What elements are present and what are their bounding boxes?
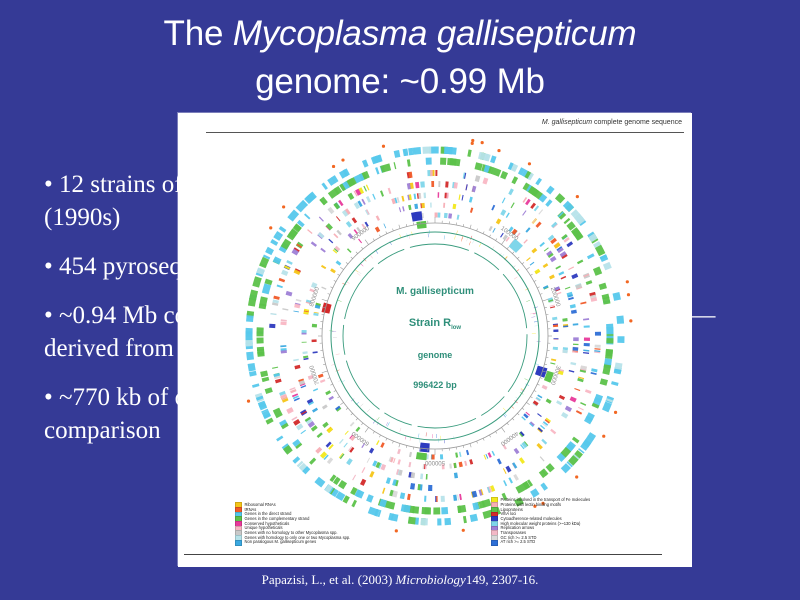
scale-tick — [386, 438, 387, 440]
scale-tick — [542, 299, 548, 301]
genome-feature — [444, 518, 451, 525]
scale-tick — [322, 371, 328, 373]
genome-feature — [281, 350, 287, 353]
scale-tick — [392, 441, 393, 443]
genome-feature — [525, 227, 530, 232]
genome-feature — [347, 248, 352, 253]
legend-right: Proteins involved in the transport of Fe… — [491, 498, 590, 545]
genome-feature — [546, 399, 552, 404]
genome-feature — [275, 379, 282, 384]
genome-feature — [279, 226, 287, 233]
genome-feature — [424, 496, 426, 502]
scale-tick — [379, 235, 380, 237]
genome-feature — [441, 496, 445, 502]
genome-feature — [585, 389, 592, 394]
genome-feature — [544, 247, 549, 251]
genome-feature — [328, 396, 334, 401]
genome-feature — [358, 271, 361, 274]
genome-feature — [475, 175, 481, 182]
genome-marker-dot — [481, 141, 484, 144]
genome-feature — [246, 335, 253, 340]
center-organism: M. gallisepticum — [396, 286, 474, 297]
genome-feature — [534, 205, 539, 211]
genome-feature — [492, 228, 495, 233]
genome-feature — [333, 233, 338, 238]
genome-feature — [262, 377, 270, 382]
genome-feature — [440, 158, 446, 165]
genome-feature — [408, 462, 411, 467]
genome-feature — [421, 203, 425, 208]
genome-feature — [433, 507, 440, 514]
figure-bottom-rule — [184, 554, 662, 556]
genome-marker-dot — [614, 411, 617, 414]
genome-feature — [260, 370, 268, 377]
genome-feature — [257, 329, 264, 336]
scale-tick — [386, 231, 387, 233]
scale-tick — [489, 435, 490, 437]
genome-feature — [541, 439, 547, 445]
genome-feature — [479, 243, 481, 247]
genome-feature — [296, 201, 308, 213]
genome-feature — [276, 435, 283, 441]
scale-tick — [544, 307, 546, 308]
genome-feature — [322, 422, 328, 428]
scale-tick — [544, 364, 546, 365]
genome-feature — [457, 215, 460, 220]
legend-row: Non paralogous M. gallisepticum genes — [235, 540, 350, 545]
genome-feature — [475, 162, 483, 170]
genome-feature — [249, 290, 258, 301]
genome-feature — [561, 276, 567, 280]
scale-tick — [330, 384, 332, 385]
genome-feature — [595, 345, 601, 348]
genome-feature — [511, 202, 515, 208]
circular-genome-map: 1000002000003000004000005000006000007000… — [197, 136, 673, 536]
genome-feature — [540, 456, 545, 461]
title-line2: genome: ~0.99 Mb — [255, 62, 545, 101]
genome-feature — [249, 371, 257, 377]
genome-feature — [360, 404, 363, 407]
genome-feature — [565, 287, 571, 290]
genome-marker-dot — [395, 529, 398, 532]
genome-feature — [553, 329, 558, 332]
genome-feature — [438, 181, 440, 187]
genome-feature — [273, 296, 280, 300]
genome-feature — [411, 211, 423, 221]
genome-feature — [246, 347, 253, 350]
scale-tick — [530, 274, 532, 275]
genome-marker-dot — [575, 475, 578, 478]
scale-tick — [534, 390, 536, 391]
genome-feature — [416, 221, 426, 229]
genome-feature — [265, 387, 273, 394]
scale-tick — [361, 423, 363, 425]
genome-feature — [380, 442, 384, 448]
legend-row: AT rich >= 2.5 STD — [491, 540, 590, 545]
genome-feature — [431, 181, 434, 187]
legend-label: AT rich >= 2.5 STD — [501, 540, 536, 545]
genome-feature — [435, 170, 437, 176]
genome-feature — [436, 496, 437, 502]
genome-feature — [538, 209, 543, 214]
genome-feature — [500, 209, 506, 216]
genome-feature — [441, 507, 448, 514]
genome-feature — [400, 492, 405, 499]
genome-feature — [503, 408, 506, 411]
citation-authors: Papazisi, L., et al. (2003) — [262, 572, 396, 587]
genome-feature — [482, 177, 488, 184]
genome-feature — [540, 425, 545, 430]
genome-feature — [437, 518, 441, 525]
genome-feature — [312, 408, 318, 413]
genome-feature — [546, 186, 555, 195]
genome-feature — [584, 325, 590, 327]
genome-feature — [315, 447, 322, 454]
genome-feature — [550, 256, 557, 262]
genome-feature — [426, 432, 427, 436]
genome-feature — [573, 323, 579, 325]
genome-feature — [534, 321, 538, 322]
genome-marker-dot — [269, 226, 272, 229]
genome-feature — [270, 239, 278, 246]
genome-feature — [502, 197, 506, 203]
genome-feature — [419, 443, 429, 453]
genome-feature — [530, 203, 536, 209]
genome-feature — [452, 204, 456, 209]
scale-tick — [328, 293, 330, 294]
scale-tick — [346, 262, 348, 264]
genome-feature — [366, 196, 371, 203]
genome-feature — [508, 477, 513, 483]
genome-feature — [366, 494, 374, 503]
genome-feature — [537, 413, 542, 417]
genome-feature — [503, 480, 507, 486]
genome-feature — [568, 266, 574, 270]
genome-feature — [286, 407, 293, 414]
genome-feature — [281, 270, 288, 276]
genome-feature — [309, 458, 316, 465]
genome-feature — [401, 196, 404, 202]
genome-feature — [559, 395, 565, 400]
genome-feature — [526, 300, 530, 302]
genome-feature — [469, 241, 471, 245]
scale-tick — [392, 229, 393, 231]
genome-feature — [454, 472, 458, 478]
genome-marker-dot — [247, 400, 250, 403]
genome-feature — [428, 233, 429, 237]
citation-volume: 149, 2307-16. — [466, 572, 539, 587]
genome-feature — [311, 241, 317, 247]
genome-feature — [265, 418, 273, 425]
genome-feature — [595, 332, 601, 336]
genome-feature — [583, 318, 589, 320]
genome-feature — [511, 176, 518, 184]
genome-feature — [376, 215, 380, 221]
genome-feature — [514, 448, 520, 454]
genome-feature — [459, 462, 463, 468]
genome-feature — [418, 434, 419, 438]
genome-feature — [514, 277, 517, 280]
center-genome-label: genome — [418, 350, 453, 360]
genome-feature — [420, 474, 423, 480]
scale-tick — [334, 390, 336, 391]
genome-feature — [572, 437, 580, 444]
scale-tick — [477, 441, 478, 443]
scale-tick — [337, 274, 339, 275]
genome-feature — [432, 434, 433, 438]
genome-feature — [357, 273, 360, 276]
scale-tick — [361, 247, 363, 249]
genome-feature — [430, 170, 433, 176]
genome-feature — [414, 194, 417, 200]
scale-tick-label: 700000 — [309, 364, 321, 386]
legend-left: Ribosomal RNAstRNAsGenes in the direct s… — [235, 503, 350, 545]
genome-feature — [603, 262, 612, 270]
genome-feature — [553, 347, 558, 350]
genome-feature — [281, 319, 287, 321]
genome-feature — [422, 147, 431, 154]
genome-feature — [470, 514, 478, 522]
genome-feature — [383, 223, 386, 228]
genome-feature — [447, 158, 456, 166]
title-line1-italic: Mycoplasma gallisepticum — [233, 14, 637, 53]
genome-feature — [616, 316, 624, 324]
genome-feature — [302, 342, 307, 343]
genome-feature — [296, 299, 302, 302]
genome-feature — [248, 363, 256, 372]
genome-feature — [252, 276, 262, 287]
genome-feature — [611, 381, 619, 386]
genome-feature — [617, 336, 624, 343]
scale-tick — [496, 238, 497, 240]
scale-tick — [351, 413, 353, 415]
scale-tick — [399, 443, 400, 447]
scale-tick — [399, 225, 400, 229]
genome-feature — [346, 458, 353, 465]
genome-feature — [550, 362, 555, 364]
genome-feature — [573, 347, 579, 351]
genome-feature — [443, 203, 445, 208]
genome-feature — [530, 262, 535, 266]
genome-feature — [469, 459, 473, 465]
genome-feature — [591, 368, 597, 372]
scale-tick — [340, 267, 343, 269]
scale-tick — [330, 287, 332, 288]
genome-feature — [336, 354, 340, 355]
figure-header-rest: complete genome sequence — [592, 119, 682, 126]
genome-marker-dot — [626, 280, 629, 283]
legend-swatch — [235, 540, 242, 546]
genome-feature — [458, 194, 460, 200]
genome-feature — [259, 296, 268, 306]
genome-feature — [319, 217, 324, 222]
genome-feature — [375, 226, 380, 232]
genome-feature — [573, 344, 579, 346]
figure-header-organism: M. gallisepticum — [542, 119, 592, 126]
genome-marker-dot — [602, 435, 605, 438]
genome-feature — [496, 218, 502, 224]
genome-feature — [469, 197, 473, 203]
scale-tick — [501, 427, 505, 432]
genome-marker-dot — [382, 145, 385, 148]
genome-feature — [258, 401, 267, 411]
genome-feature — [363, 186, 367, 192]
genome-feature — [512, 462, 517, 468]
genome-feature — [587, 253, 595, 259]
genome-feature — [466, 450, 469, 455]
center-genome-size: 996422 bp — [413, 380, 457, 390]
scale-tick — [328, 378, 330, 379]
genome-marker-dot — [471, 139, 474, 142]
genome-feature — [448, 213, 452, 218]
gc-skew-ring-outer — [331, 232, 539, 440]
genome-feature — [453, 495, 457, 501]
genome-feature — [497, 458, 502, 464]
genome-feature — [282, 308, 288, 310]
genome-feature — [330, 268, 336, 273]
genome-feature — [440, 436, 441, 440]
genome-feature — [246, 315, 254, 322]
genome-feature — [321, 287, 326, 290]
genome-feature — [545, 199, 552, 207]
genome-feature — [380, 190, 384, 196]
gc-skew-ring-inner — [343, 244, 527, 428]
genome-feature — [348, 193, 355, 200]
genome-feature — [540, 482, 548, 490]
genome-feature — [593, 266, 602, 275]
genome-feature — [566, 241, 573, 247]
genome-feature — [454, 463, 457, 468]
genome-marker-dot — [629, 319, 632, 322]
genome-feature — [321, 183, 327, 190]
genome-feature — [420, 518, 427, 525]
genome-feature — [534, 325, 538, 326]
genome-feature — [367, 458, 370, 463]
genome-feature — [319, 197, 328, 206]
genome-feature — [339, 168, 350, 178]
scale-tick — [470, 225, 471, 229]
genome-feature — [564, 218, 571, 224]
genome-feature — [317, 432, 323, 438]
genome-feature — [470, 208, 473, 213]
genome-feature — [401, 504, 411, 512]
genome-feature — [302, 333, 307, 335]
genome-feature — [394, 150, 401, 158]
genome-feature — [438, 439, 439, 443]
scale-tick — [406, 224, 407, 226]
genome-feature — [336, 260, 342, 265]
genome-feature — [519, 457, 525, 464]
genome-feature — [524, 378, 528, 380]
scale-tick — [540, 293, 542, 294]
genome-feature — [573, 337, 579, 341]
genome-feature — [565, 406, 572, 412]
scale-ring — [322, 223, 548, 449]
genome-feature — [615, 362, 623, 369]
genome-feature — [388, 188, 392, 194]
citation-journal: Microbiology — [396, 572, 466, 587]
genome-feature — [491, 205, 495, 211]
genome-feature — [532, 218, 537, 223]
genome-feature — [339, 439, 344, 444]
genome-feature — [386, 477, 391, 484]
genome-marker-dot — [282, 205, 285, 208]
genome-feature — [412, 506, 419, 514]
genome-feature — [430, 203, 432, 208]
figure-top-rule — [206, 132, 684, 133]
genome-feature — [492, 451, 496, 456]
genome-feature — [584, 343, 590, 346]
scale-tick — [534, 280, 536, 281]
genome-feature — [435, 213, 438, 218]
genome-feature — [586, 280, 593, 285]
genome-feature — [508, 188, 514, 195]
scale-tick — [365, 427, 369, 432]
genome-feature — [426, 474, 428, 480]
genome-feature — [488, 452, 492, 458]
genome-feature — [252, 383, 259, 388]
genome-feature — [505, 466, 511, 473]
scale-tick — [365, 240, 369, 245]
genome-figure-panel: M. gallisepticum complete genome sequenc… — [178, 113, 692, 567]
genome-feature — [369, 471, 374, 478]
genome-feature — [569, 370, 575, 373]
scale-tick — [522, 262, 524, 264]
genome-feature — [301, 430, 306, 434]
genome-feature — [591, 372, 597, 375]
genome-feature — [571, 310, 577, 314]
genome-feature — [333, 202, 340, 209]
genome-marker-dot — [528, 162, 531, 165]
scale-tick — [496, 431, 497, 433]
scale-tick — [463, 445, 464, 447]
genome-feature — [402, 206, 405, 211]
scale-tick — [537, 287, 539, 288]
genome-feature — [606, 324, 613, 334]
genome-feature — [352, 475, 356, 481]
genome-feature — [246, 352, 254, 361]
scale-tick — [517, 257, 519, 259]
genome-feature — [583, 352, 589, 354]
genome-feature — [338, 480, 347, 489]
genome-feature — [362, 160, 369, 168]
genome-feature — [600, 378, 608, 385]
genome-feature — [407, 494, 411, 500]
genome-feature — [570, 362, 576, 365]
genome-feature — [367, 409, 370, 412]
scale-tick — [483, 231, 484, 233]
scale-tick — [477, 229, 478, 231]
scale-tick — [406, 445, 407, 447]
page-title: The Mycoplasma gallisepticum genome: ~0.… — [0, 10, 800, 106]
genome-feature — [438, 213, 441, 218]
scale-tick — [517, 413, 519, 415]
genome-feature — [542, 385, 548, 390]
genome-feature — [400, 428, 402, 432]
scale-tick — [356, 418, 358, 420]
genome-feature — [257, 338, 264, 344]
genome-feature — [457, 494, 459, 500]
genome-feature — [294, 365, 300, 370]
scale-tick — [379, 435, 380, 437]
center-strain: Strain Rlow — [409, 317, 462, 331]
genome-feature — [325, 390, 331, 395]
genome-feature — [312, 324, 317, 328]
genome-feature — [423, 193, 426, 199]
genome-feature — [454, 235, 455, 239]
genome-feature — [269, 324, 275, 328]
genome-feature — [407, 159, 411, 166]
